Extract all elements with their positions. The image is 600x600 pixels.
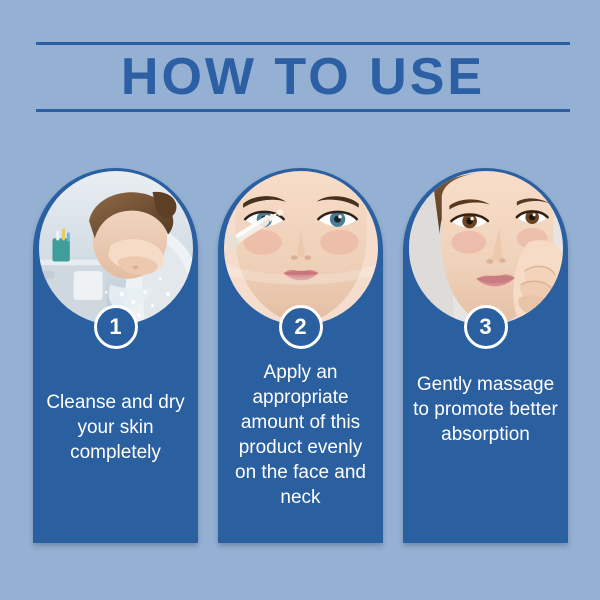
steps-row: 1 Cleanse and dry your skin completely [0, 168, 600, 548]
step-card-3: 3 Gently massage to promote better absor… [403, 168, 568, 543]
step-3-number-badge: 3 [464, 305, 508, 349]
title-rule-bottom [36, 109, 570, 112]
step-2-caption: Apply an appropriate amount of this prod… [226, 360, 375, 510]
woman-massaging-face-icon [409, 171, 563, 325]
step-card-2: 2 Apply an appropriate amount of this pr… [218, 168, 383, 543]
header: HOW TO USE [36, 42, 570, 112]
step-card-1: 1 Cleanse and dry your skin completely [33, 168, 198, 543]
step-1-number-badge: 1 [94, 305, 138, 349]
page-title: HOW TO USE [36, 45, 570, 109]
woman-applying-serum-icon [224, 171, 378, 325]
step-1-photo [38, 170, 194, 326]
how-to-use-poster: HOW TO USE [0, 0, 600, 600]
step-3-caption: Gently massage to promote better absorpt… [411, 372, 560, 447]
step-1-caption: Cleanse and dry your skin completely [41, 390, 190, 465]
step-3-photo [408, 170, 564, 326]
step-2-photo [223, 170, 379, 326]
step-2-number-badge: 2 [279, 305, 323, 349]
woman-washing-face-icon [39, 171, 193, 325]
